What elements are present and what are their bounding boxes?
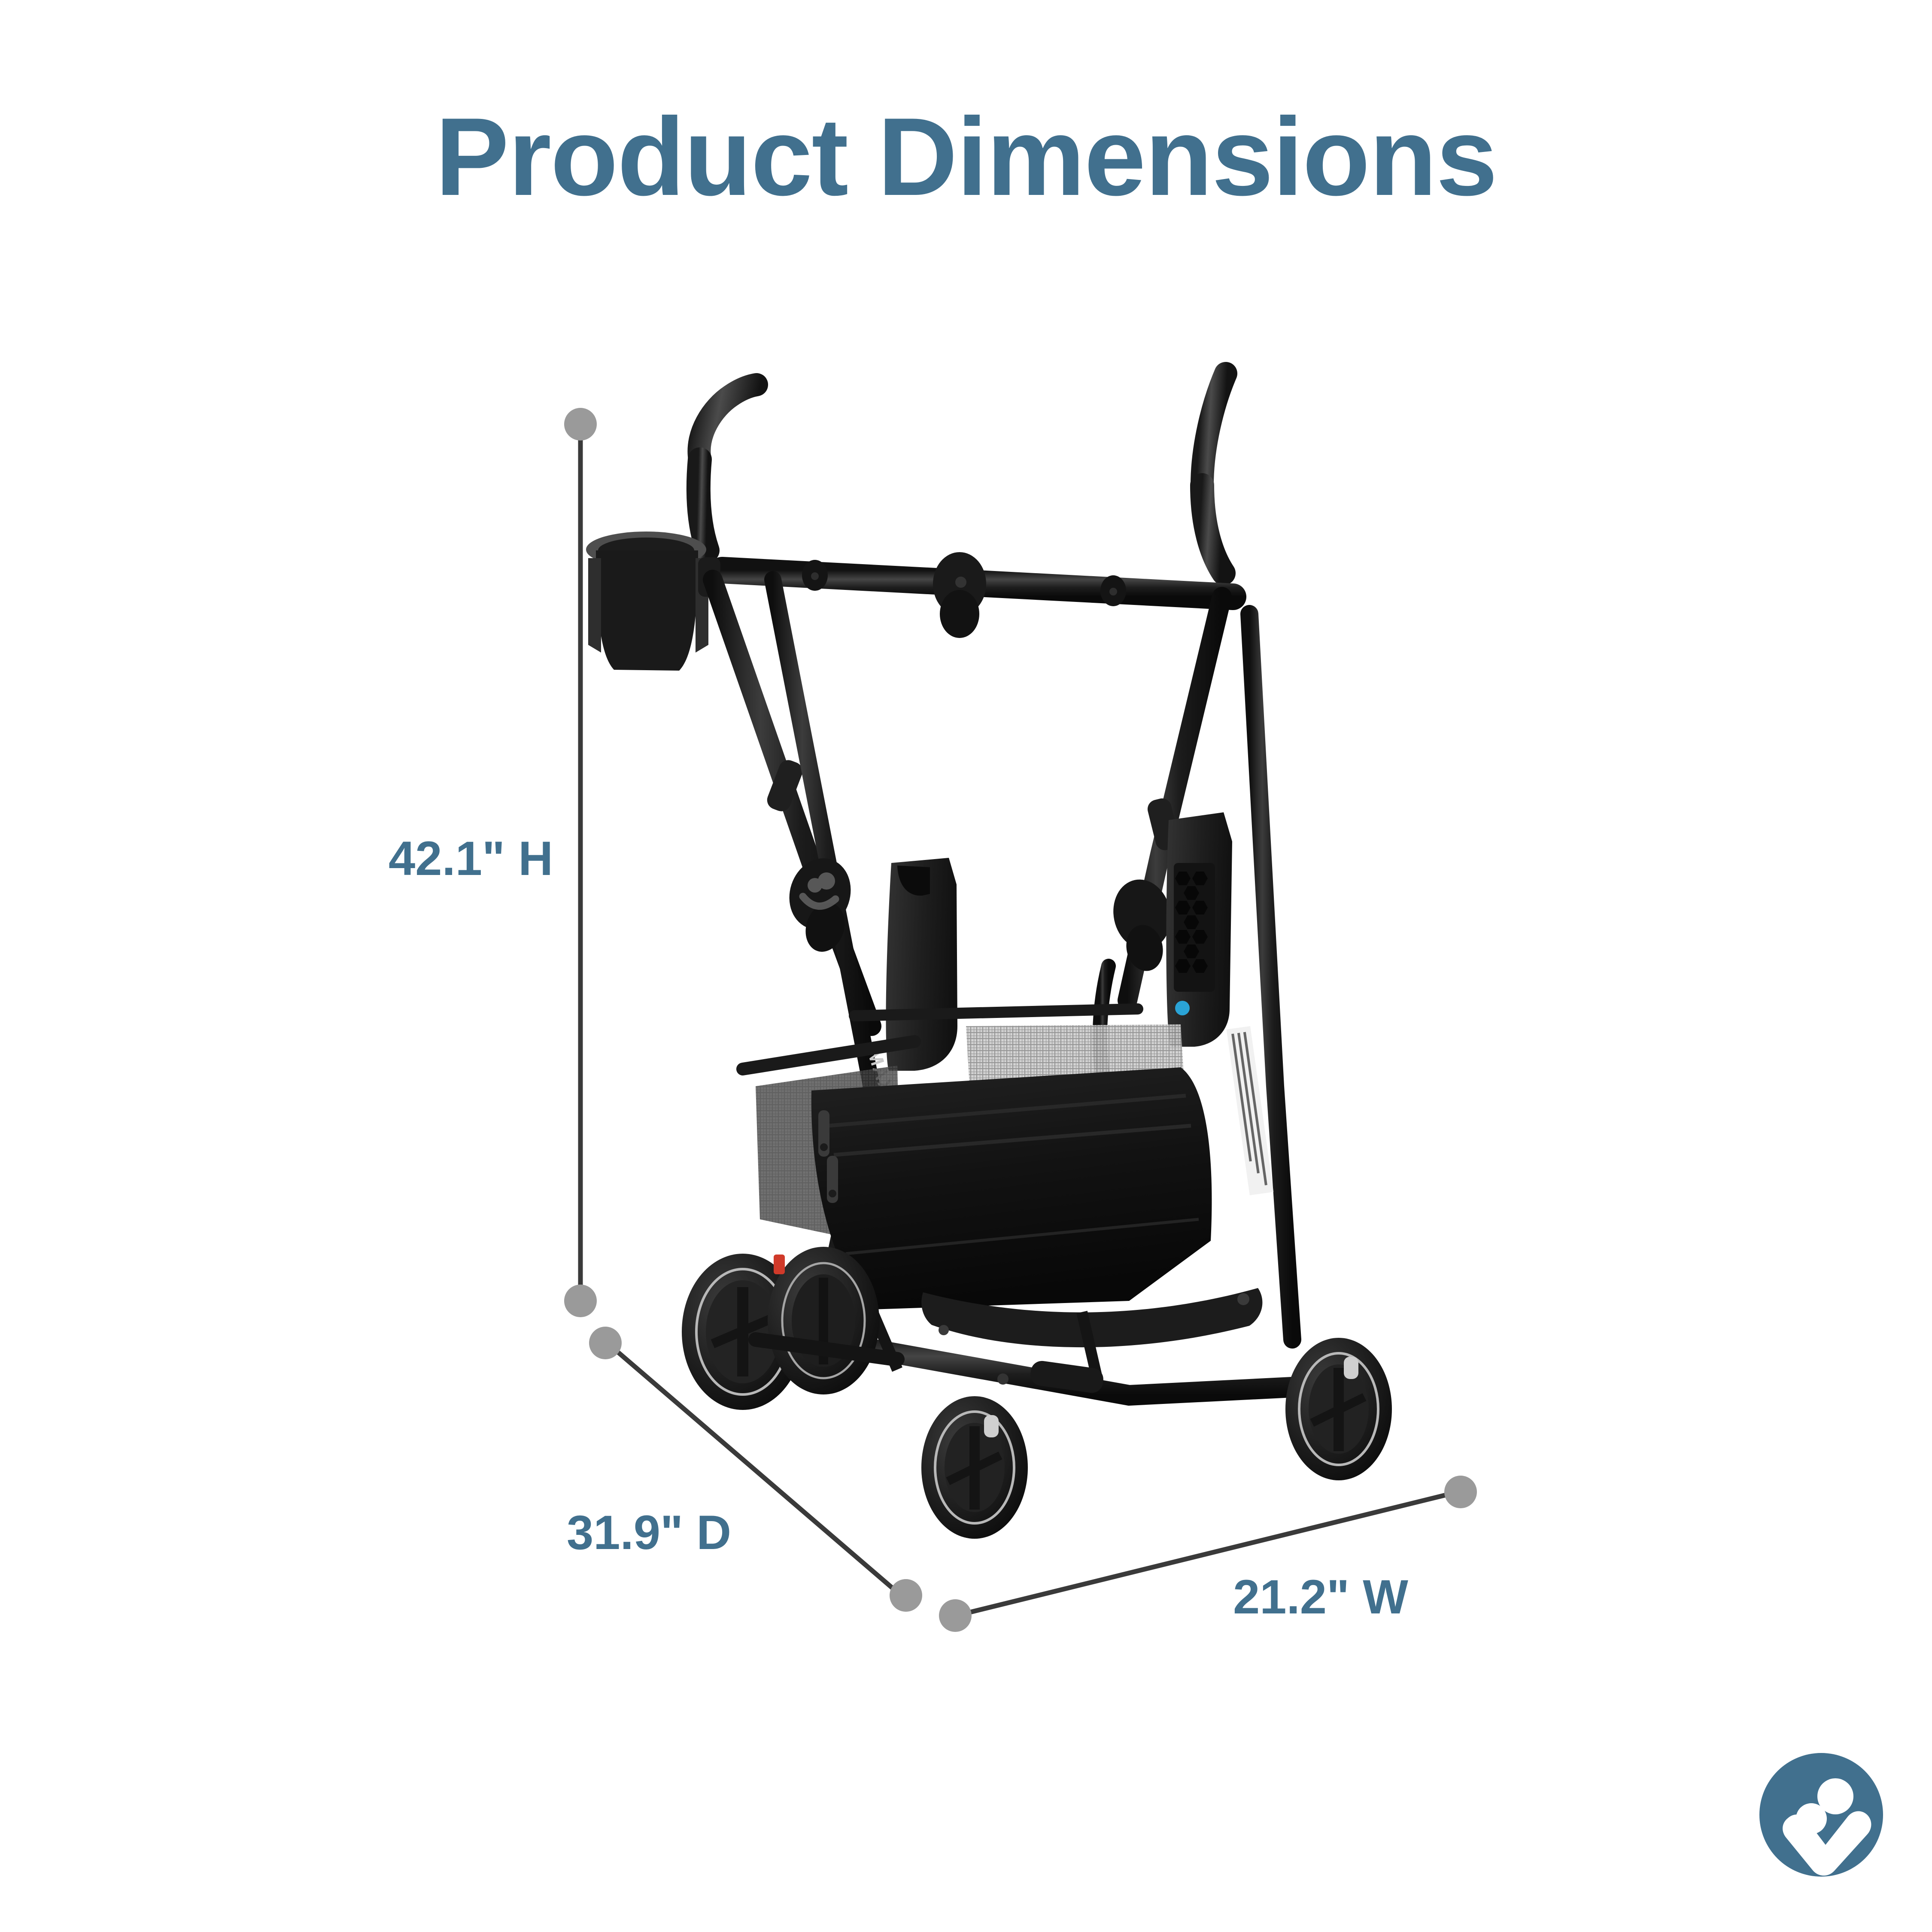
width-dimension-label: 21.2" W [1233, 1569, 1408, 1625]
accent-dot [1175, 1001, 1190, 1015]
zipper-pull-upper [818, 1110, 829, 1157]
height-dimension-label: 42.1" H [389, 831, 553, 886]
cup-holder [586, 532, 720, 671]
zipper-pull-lower [827, 1156, 838, 1203]
handlebar-crossbar [722, 552, 1233, 638]
handlebar-center-hub [933, 552, 986, 638]
depth-dimension-label: 31.9" D [567, 1505, 731, 1560]
page-canvas: Product Dimensions [0, 0, 1932, 1932]
brand-logo [1759, 1753, 1883, 1877]
brake-tab [774, 1255, 785, 1274]
front-wheel-left [921, 1396, 1028, 1539]
right-handle-grip [1202, 374, 1226, 573]
car-seat-adapter-right [1166, 812, 1232, 1047]
front-wheel-right [1285, 1338, 1392, 1480]
adapter-vent [1174, 863, 1215, 992]
width-marker-start [939, 1599, 972, 1632]
depth-marker-end [890, 1579, 922, 1612]
page-title: Product Dimensions [0, 99, 1932, 215]
left-handle-grip [699, 385, 756, 550]
product-image: MAXI-COSI [571, 356, 1481, 1563]
